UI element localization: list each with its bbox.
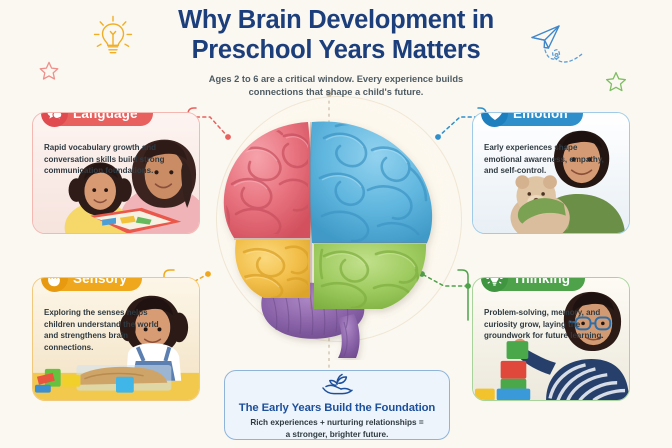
card-emotion-pill: Emotion <box>482 112 583 126</box>
banner-title: The Early Years Build the Foundation <box>239 402 435 414</box>
brain-illustration <box>196 92 486 360</box>
banner-subtitle: Rich experiences + nurturing relationshi… <box>250 417 423 439</box>
card-emotion-text: Early experiences shape emotional awaren… <box>484 142 612 177</box>
card-sensory-text: Exploring the senses helps children unde… <box>44 307 172 353</box>
header: Why Brain Development in Preschool Years… <box>0 6 672 99</box>
card-language-pill: Language <box>42 112 153 126</box>
page-title-line2: Preschool Years Matters <box>0 36 672 66</box>
bottom-banner: The Early Years Build the Foundation Ric… <box>224 370 450 440</box>
page-subtitle-line1: Ages 2 to 6 are a critical window. Every… <box>0 73 672 86</box>
card-language-text: Rapid vocabulary growth and conversation… <box>44 142 172 177</box>
hand-holding-sprout-icon <box>320 372 354 401</box>
banner-subtitle-line1: Rich experiences + nurturing relationshi… <box>250 417 423 428</box>
card-thinking-text: Problem-solving, memory, and curiosity g… <box>484 307 612 342</box>
card-thinking[interactable]: Thinking Problem-solving, memory, and cu… <box>472 277 630 401</box>
card-emotion-label: Emotion <box>513 112 568 121</box>
banner-subtitle-line2: a stronger, brighter future. <box>250 429 423 440</box>
card-thinking-label: Thinking <box>513 277 570 286</box>
brain-lobe-frontal-left <box>224 122 313 238</box>
card-emotion[interactable]: Emotion Early experiences shape emotiona… <box>472 112 630 234</box>
page-title-line1: Why Brain Development in <box>0 6 672 36</box>
brain-lobe-occipital-right <box>314 244 426 309</box>
card-sensory[interactable]: Sensory Exploring the senses helps child… <box>32 277 200 401</box>
card-language[interactable]: Language Rapid vocabulary growth and con… <box>32 112 200 234</box>
card-language-label: Language <box>73 112 138 121</box>
page-subtitle-line2: connections that shape a child's future. <box>0 86 672 99</box>
card-sensory-label: Sensory <box>73 277 127 286</box>
page-subtitle: Ages 2 to 6 are a critical window. Every… <box>0 73 672 99</box>
brain-lobe-frontal-right <box>310 121 432 243</box>
card-thinking-pill: Thinking <box>482 277 585 291</box>
infographic-canvas: Why Brain Development in Preschool Years… <box>0 0 672 448</box>
card-sensory-pill: Sensory <box>42 277 142 291</box>
brain-lobe-temporal-left <box>235 240 310 298</box>
page-title: Why Brain Development in Preschool Years… <box>0 6 672 66</box>
